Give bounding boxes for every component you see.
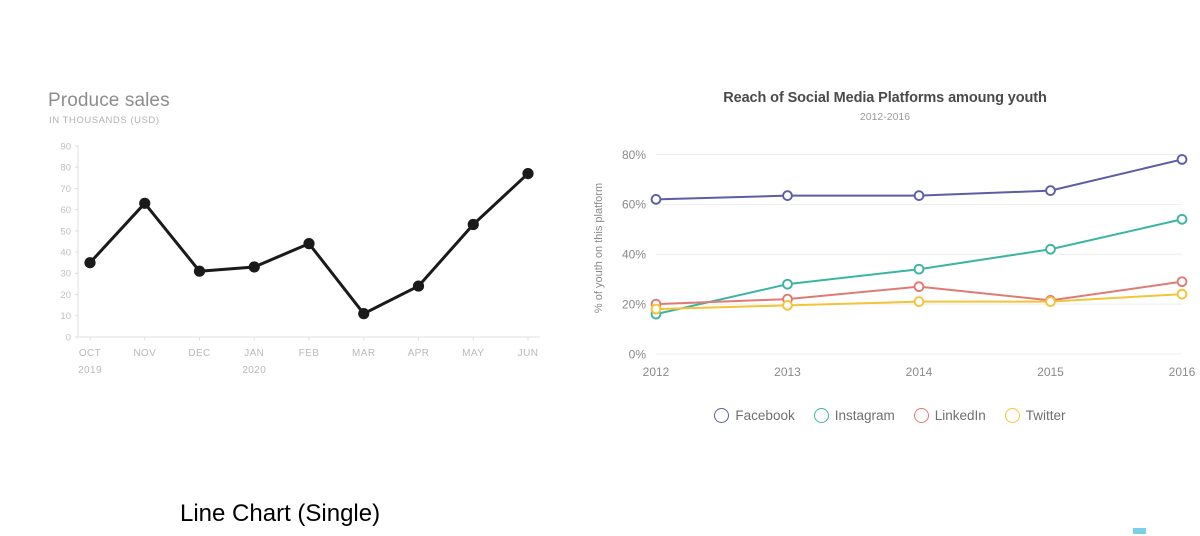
multi-line-chart-panel: Reach of Social Media Platforms amoung y… [580, 0, 1200, 536]
multi-chart-data-point-twitter[interactable] [652, 305, 661, 314]
single-chart-xtick-label: OCT [79, 348, 101, 359]
multi-chart-data-point-twitter[interactable] [1046, 297, 1055, 306]
legend-item-twitter[interactable]: Twitter [1005, 408, 1066, 423]
legend-label: Twitter [1026, 408, 1066, 423]
multi-chart-ytick-label: 80% [622, 148, 646, 162]
single-chart-data-point[interactable] [303, 238, 314, 249]
multi-chart-data-point-twitter[interactable] [1178, 290, 1187, 299]
single-chart-xtick-label: DEC [188, 348, 210, 359]
single-line-chart-panel: Produce sales IN THOUSANDS (USD) 0102030… [0, 0, 580, 536]
multi-chart-data-point-facebook[interactable] [1046, 186, 1055, 195]
single-chart-ytick-label: 0 [66, 332, 71, 343]
corner-color-artifact [1133, 528, 1146, 534]
multi-chart-data-point-instagram[interactable] [1178, 215, 1187, 224]
single-chart-xtick-label: MAY [462, 348, 484, 359]
single-chart-plot-area: 0102030405060708090OCT2019NOVDECJAN2020F… [48, 140, 548, 395]
multi-chart-data-point-instagram[interactable] [915, 265, 924, 274]
multi-chart-xtick-label: 2014 [906, 365, 933, 379]
multi-chart-legend: FacebookInstagramLinkedInTwitter [580, 408, 1200, 423]
multi-chart-data-point-instagram[interactable] [783, 280, 792, 289]
single-chart-ytick-label: 10 [60, 311, 71, 322]
single-chart-data-point[interactable] [358, 308, 369, 319]
legend-item-linkedin[interactable]: LinkedIn [914, 408, 986, 423]
multi-chart-xtick-label: 2016 [1169, 365, 1196, 379]
legend-label: Facebook [735, 408, 794, 423]
single-chart-xtick-label: FEB [299, 348, 320, 359]
single-chart-data-point[interactable] [249, 261, 260, 272]
multi-chart-y-axis-label: % of youth on this platform [593, 183, 605, 313]
single-chart-svg: 0102030405060708090OCT2019NOVDECJAN2020F… [48, 140, 548, 395]
multi-chart-title: Reach of Social Media Platforms amoung y… [580, 90, 1190, 106]
single-chart-ytick-label: 50 [60, 226, 71, 237]
single-chart-xtick-label: JAN [244, 348, 264, 359]
single-chart-data-point[interactable] [468, 219, 479, 230]
multi-chart-xtick-label: 2015 [1037, 365, 1064, 379]
single-chart-ytick-label: 20 [60, 290, 71, 301]
legend-label: LinkedIn [935, 408, 986, 423]
multi-chart-ytick-label: 20% [622, 297, 646, 311]
multi-chart-data-point-facebook[interactable] [652, 195, 661, 204]
single-chart-xtick-sublabel: 2020 [242, 365, 266, 376]
multi-chart-xtick-label: 2013 [774, 365, 801, 379]
multi-chart-data-point-twitter[interactable] [783, 301, 792, 310]
multi-chart-data-point-instagram[interactable] [1046, 245, 1055, 254]
multi-chart-plot-area: 0%20%40%60%80%% of youth on this platfor… [580, 128, 1200, 398]
legend-circle-icon-instagram [814, 408, 829, 423]
single-chart-data-point[interactable] [139, 198, 150, 209]
multi-chart-data-point-facebook[interactable] [1178, 155, 1187, 164]
single-chart-xtick-sublabel: 2019 [78, 365, 102, 376]
single-chart-subtitle: IN THOUSANDS (USD) [49, 115, 160, 126]
multi-chart-xtick-label: 2012 [643, 365, 670, 379]
multi-chart-data-point-linkedin[interactable] [1178, 277, 1187, 286]
multi-chart-ytick-label: 60% [622, 198, 646, 212]
single-chart-ytick-label: 70 [60, 184, 71, 195]
multi-chart-data-point-facebook[interactable] [783, 191, 792, 200]
legend-circle-icon-twitter [1005, 408, 1020, 423]
single-chart-data-point[interactable] [522, 168, 533, 179]
single-chart-data-point[interactable] [84, 257, 95, 268]
legend-item-instagram[interactable]: Instagram [814, 408, 895, 423]
single-chart-xtick-label: NOV [133, 348, 156, 359]
legend-item-facebook[interactable]: Facebook [714, 408, 794, 423]
single-chart-ytick-label: 30 [60, 269, 71, 280]
multi-chart-ytick-label: 40% [622, 248, 646, 262]
multi-chart-subtitle: 2012-2016 [580, 111, 1190, 123]
single-chart-xtick-label: APR [408, 348, 430, 359]
single-chart-ytick-label: 90 [60, 141, 71, 152]
single-chart-title: Produce sales [48, 90, 170, 112]
multi-chart-data-point-linkedin[interactable] [915, 282, 924, 291]
legend-circle-icon-facebook [714, 408, 729, 423]
single-chart-ytick-label: 60 [60, 205, 71, 216]
single-chart-xtick-label: JUN [518, 348, 539, 359]
caption-line-chart-single: Line Chart (Single) [180, 500, 380, 528]
single-chart-xtick-label: MAR [352, 348, 375, 359]
single-chart-ytick-label: 80 [60, 163, 71, 174]
single-chart-data-point[interactable] [194, 266, 205, 277]
multi-chart-data-point-facebook[interactable] [915, 191, 924, 200]
multi-chart-ytick-label: 0% [629, 347, 647, 361]
single-chart-data-point[interactable] [413, 280, 424, 291]
single-chart-ytick-label: 40 [60, 248, 71, 259]
multi-chart-data-point-twitter[interactable] [915, 297, 924, 306]
multi-chart-svg: 0%20%40%60%80%% of youth on this platfor… [580, 128, 1200, 398]
legend-circle-icon-linkedin [914, 408, 929, 423]
legend-label: Instagram [835, 408, 895, 423]
